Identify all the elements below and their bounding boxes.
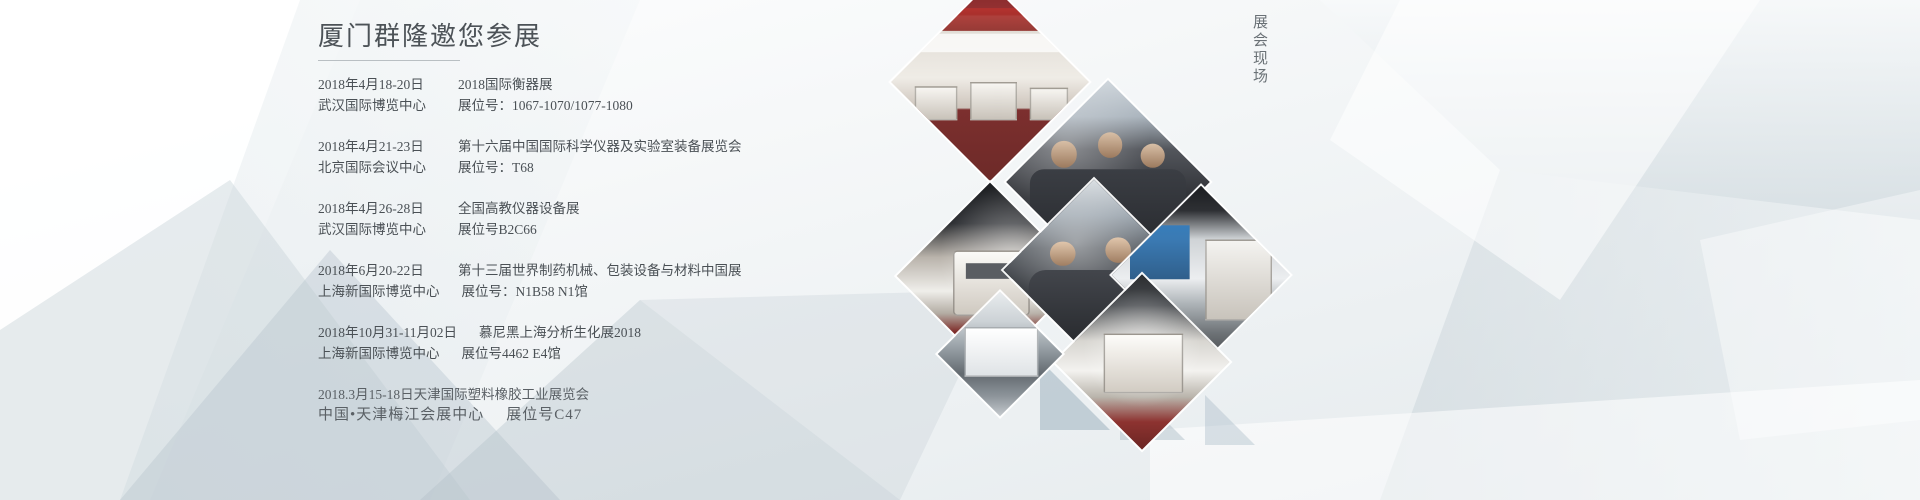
event-item: 2018年10月31-11月02日 慕尼黑上海分析生化展2018 上海新国际博览… [318, 322, 938, 364]
exhibition-banner: 厦门群隆邀您参展 2018年4月18-20日 2018国际衡器展 武汉国际博览中… [0, 0, 1920, 500]
event-date: 2018年4月18-20日 [318, 74, 436, 95]
event-line-2: 武汉国际博览中心 展位号B2C66 [318, 219, 938, 240]
event-line-2: 上海新国际博览中心 展位号：N1B58 N1馆 [318, 281, 938, 302]
event-booth: 展位号4462 E4馆 [462, 343, 561, 364]
event-name: 第十六届中国国际科学仪器及实验室装备展览会 [458, 136, 742, 157]
event-name: 慕尼黑上海分析生化展2018 [479, 322, 641, 343]
page-title: 厦门群隆邀您参展 [318, 20, 938, 54]
event-line-2: 北京国际会议中心 展位号：T68 [318, 157, 938, 178]
event-venue: 北京国际会议中心 [318, 157, 436, 178]
event-date: 2018年6月20-22日 [318, 260, 436, 281]
event-booth: 展位号：N1B58 N1馆 [462, 281, 588, 302]
event-booth: 展位号B2C66 [458, 219, 537, 240]
event-line-2: 中国•天津梅江会展中心 展位号C47 [318, 405, 938, 426]
banner-content: 厦门群隆邀您参展 2018年4月18-20日 2018国际衡器展 武汉国际博览中… [318, 20, 938, 426]
event-item: 2018年4月26-28日 全国高教仪器设备展 武汉国际博览中心 展位号B2C6… [318, 198, 938, 240]
event-line-2: 上海新国际博览中心 展位号4462 E4馆 [318, 343, 938, 364]
event-name: 全国高教仪器设备展 [458, 198, 580, 219]
event-date: 2018年4月26-28日 [318, 198, 436, 219]
event-name: 第十三届世界制药机械、包装设备与材料中国展 [458, 260, 742, 281]
event-venue: 中国•天津梅江会展中心 [318, 405, 484, 426]
event-booth: 展位号：1067-1070/1077-1080 [458, 95, 633, 116]
event-line-1: 2018年6月20-22日 第十三届世界制药机械、包装设备与材料中国展 [318, 260, 938, 281]
event-line-1: 2018年10月31-11月02日 慕尼黑上海分析生化展2018 [318, 322, 938, 343]
event-venue: 武汉国际博览中心 [318, 219, 436, 240]
event-item: 2018年4月18-20日 2018国际衡器展 武汉国际博览中心 展位号：106… [318, 74, 938, 116]
event-venue: 武汉国际博览中心 [318, 95, 436, 116]
photo-collage [1010, 0, 1410, 500]
title-underline [318, 60, 460, 61]
event-booth: 展位号C47 [506, 405, 582, 426]
event-name: 2018国际衡器展 [458, 74, 553, 95]
event-line-1: 2018.3月15-18日天津国际塑料橡胶工业展览会 [318, 384, 938, 405]
event-item: 2018年6月20-22日 第十三届世界制药机械、包装设备与材料中国展 上海新国… [318, 260, 938, 302]
event-line-1: 2018年4月26-28日 全国高教仪器设备展 [318, 198, 938, 219]
event-item: 2018年4月21-23日 第十六届中国国际科学仪器及实验室装备展览会 北京国际… [318, 136, 938, 178]
event-line-1: 2018年4月18-20日 2018国际衡器展 [318, 74, 938, 95]
event-line-2: 武汉国际博览中心 展位号：1067-1070/1077-1080 [318, 95, 938, 116]
event-title-line: 2018.3月15-18日天津国际塑料橡胶工业展览会 [318, 384, 589, 405]
event-booth: 展位号：T68 [458, 157, 534, 178]
event-date: 2018年10月31-11月02日 [318, 322, 457, 343]
event-venue: 上海新国际博览中心 [318, 343, 440, 364]
event-venue: 上海新国际博览中心 [318, 281, 440, 302]
event-date: 2018年4月21-23日 [318, 136, 436, 157]
event-line-1: 2018年4月21-23日 第十六届中国国际科学仪器及实验室装备展览会 [318, 136, 938, 157]
event-item: 2018.3月15-18日天津国际塑料橡胶工业展览会 中国•天津梅江会展中心 展… [318, 384, 938, 426]
